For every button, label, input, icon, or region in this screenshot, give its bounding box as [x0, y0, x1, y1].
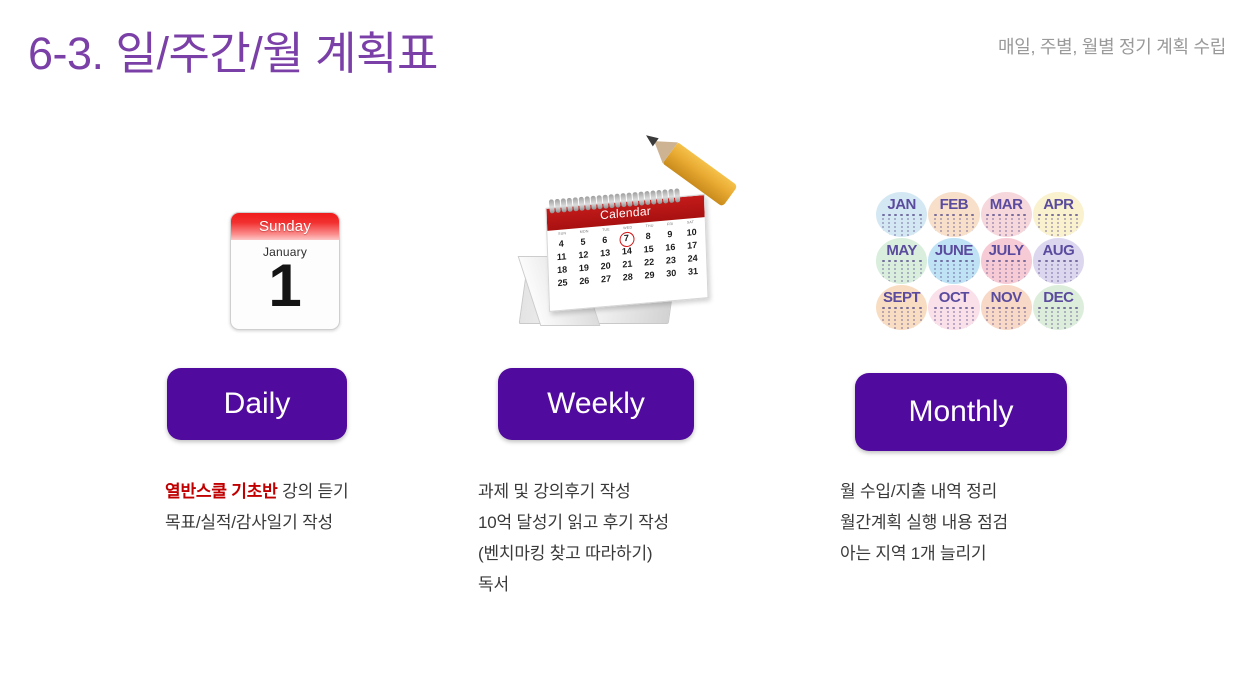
month-mini-grid: [986, 214, 1026, 237]
list-item: 월간계획 실행 내용 점검: [840, 507, 1008, 538]
month-circle-oct: OCT: [928, 285, 979, 330]
daily-icon-area: Sunday January 1: [140, 180, 430, 330]
month-circle-sept: SEPT: [876, 285, 927, 330]
list-item: (벤치마킹 찾고 따라하기): [478, 538, 669, 569]
month-circle-apr: APR: [1033, 192, 1084, 237]
month-circle-july: JULY: [981, 238, 1032, 283]
month-label: FEB: [940, 197, 969, 212]
daily-note-rest: 강의 듣기: [278, 482, 349, 501]
month-mini-grid: [986, 260, 1026, 283]
list-item: 목표/실적/감사일기 작성: [165, 507, 348, 538]
weekly-notes: 과제 및 강의후기 작성 10억 달성기 읽고 후기 작성 (벤치마킹 찾고 따…: [478, 476, 669, 600]
weekly-button[interactable]: Weekly: [498, 368, 694, 440]
month-label: JULY: [989, 243, 1024, 258]
day-calendar-weekday: Sunday: [231, 213, 339, 240]
desk-calendar-icon: Calendar SUNMONTUEWEDTHUFRISAT 45678910 …: [515, 185, 725, 330]
column-weekly: Calendar SUNMONTUEWEDTHUFRISAT 45678910 …: [470, 180, 770, 330]
monthly-button[interactable]: Monthly: [855, 373, 1067, 451]
month-label: DEC: [1043, 290, 1073, 305]
day-calendar-daynumber: 1: [231, 255, 339, 317]
month-label: NOV: [991, 290, 1022, 305]
month-mini-grid: [882, 214, 922, 237]
month-mini-grid: [934, 260, 974, 283]
month-label: AUG: [1042, 243, 1074, 258]
month-label: JAN: [887, 197, 916, 212]
month-label: OCT: [939, 290, 969, 305]
plan-columns: Sunday January 1 Daily 열반스쿨 기초반 강의 듣기 목표…: [0, 180, 1244, 640]
month-circle-dec: DEC: [1033, 285, 1084, 330]
month-mini-grid: [934, 214, 974, 237]
month-label: JUNE: [935, 243, 973, 258]
daily-note-highlight: 열반스쿨 기초반: [165, 482, 278, 501]
month-label: SEPT: [883, 290, 920, 305]
list-item: 독서: [478, 569, 669, 600]
month-circle-june: JUNE: [928, 238, 979, 283]
monthly-notes: 월 수입/지출 내역 정리 월간계획 실행 내용 점검 아는 지역 1개 늘리기: [840, 476, 1008, 569]
day-calendar-icon: Sunday January 1: [230, 212, 340, 330]
month-circle-mar: MAR: [981, 192, 1032, 237]
weekly-icon-area: Calendar SUNMONTUEWEDTHUFRISAT 45678910 …: [470, 180, 770, 330]
page-title: 6-3. 일/주간/월 계획표: [28, 17, 438, 82]
month-mini-grid: [882, 307, 922, 330]
monthly-icon-area: JANFEBMARAPRMAYJUNEJULYAUGSEPTOCTNOVDEC: [830, 180, 1130, 330]
month-circle-nov: NOV: [981, 285, 1032, 330]
month-label: APR: [1043, 197, 1073, 212]
slide-root: 6-3. 일/주간/월 계획표 매일, 주별, 월별 정기 계획 수립 Sund…: [0, 0, 1244, 693]
list-item: 열반스쿨 기초반 강의 듣기: [165, 476, 348, 507]
list-item: 10억 달성기 읽고 후기 작성: [478, 507, 669, 538]
page-subtitle: 매일, 주별, 월별 정기 계획 수립: [998, 33, 1226, 59]
daily-notes: 열반스쿨 기초반 강의 듣기 목표/실적/감사일기 작성: [165, 476, 348, 538]
month-mini-grid: [934, 307, 974, 330]
month-mini-grid: [882, 260, 922, 283]
list-item: 과제 및 강의후기 작성: [478, 476, 669, 507]
column-daily: Sunday January 1 Daily 열반스쿨 기초반 강의 듣기 목표…: [140, 180, 430, 330]
list-item: 아는 지역 1개 늘리기: [840, 538, 1008, 569]
month-mini-grid: [1038, 260, 1078, 283]
month-mini-grid: [1038, 214, 1078, 237]
month-label: MAR: [990, 197, 1023, 212]
month-circle-jan: JAN: [876, 192, 927, 237]
daily-button[interactable]: Daily: [167, 368, 347, 440]
month-circle-feb: FEB: [928, 192, 979, 237]
list-item: 월 수입/지출 내역 정리: [840, 476, 1008, 507]
month-circle-aug: AUG: [1033, 238, 1084, 283]
month-circle-may: MAY: [876, 238, 927, 283]
column-monthly: JANFEBMARAPRMAYJUNEJULYAUGSEPTOCTNOVDEC …: [830, 180, 1130, 330]
month-label: MAY: [886, 243, 916, 258]
month-grid-icon: JANFEBMARAPRMAYJUNEJULYAUGSEPTOCTNOVDEC: [876, 192, 1084, 330]
month-mini-grid: [986, 307, 1026, 330]
month-mini-grid: [1038, 307, 1078, 330]
